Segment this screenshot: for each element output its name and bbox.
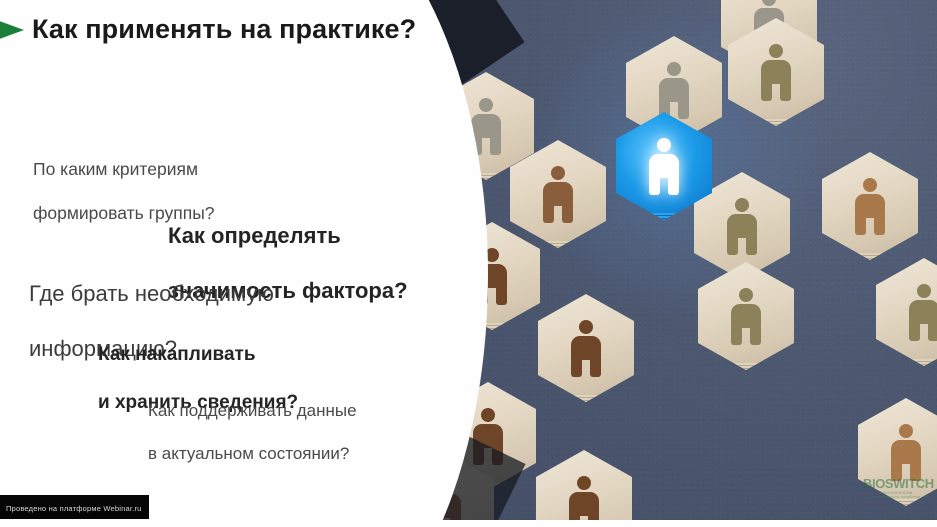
person-pictogram-icon (889, 424, 923, 480)
person-leg-r (928, 322, 937, 341)
person-leg-l (909, 322, 920, 341)
hexagon-tiles-photo (398, 0, 937, 520)
corner-logo-sub-2: для сельского хозяйства (863, 495, 929, 499)
person-body (571, 336, 601, 360)
person-body (731, 304, 761, 328)
person-leg-r (668, 176, 679, 195)
person-body (891, 440, 921, 464)
person-head (769, 44, 783, 58)
person-body (855, 194, 885, 218)
person-leg-l (761, 82, 772, 101)
person-head (479, 98, 493, 112)
question-line: Как определять (168, 222, 408, 250)
person-head (481, 408, 495, 422)
person-leg-l (543, 204, 554, 223)
person-leg-l (571, 358, 582, 377)
person-leg-r (746, 236, 757, 255)
question-line: Как накапливать (98, 343, 298, 367)
corner-logo-mark: BIOSWITCH (863, 477, 929, 491)
person-pictogram-icon (729, 288, 763, 344)
question-line: в актуальном состоянии? (148, 443, 357, 464)
person-body (649, 154, 679, 178)
person-leg-r (750, 326, 761, 345)
person-head (577, 476, 591, 490)
person-leg-r (874, 216, 885, 235)
person-leg-l (731, 326, 742, 345)
person-leg-l (649, 176, 660, 195)
question-line: По каким критериям (33, 158, 215, 180)
person-body (471, 114, 501, 138)
person-head (667, 62, 681, 76)
person-body (569, 492, 599, 516)
question-line: Где брать необходимую (29, 280, 274, 308)
person-pictogram-icon (647, 138, 681, 194)
person-body (659, 78, 689, 102)
person-pictogram-icon (907, 284, 937, 340)
slide-bottom-strip (0, 520, 937, 527)
person-pictogram-icon (567, 476, 601, 520)
person-leg-r (590, 358, 601, 377)
person-head (762, 0, 776, 6)
person-head (739, 288, 753, 302)
person-body (543, 182, 573, 206)
person-body (909, 300, 937, 324)
platform-watermark-text: Проведено на платформе Webinar.ru (6, 504, 142, 513)
green-triangle-icon (0, 17, 24, 43)
person-leg-l (727, 236, 738, 255)
person-leg-r (496, 286, 507, 305)
person-pictogram-icon (725, 198, 759, 254)
slide-root: Как применять на практике? По каким крит… (0, 0, 937, 527)
question-line: Как поддерживать данные (148, 400, 357, 421)
person-pictogram-icon (569, 320, 603, 376)
person-pictogram-icon (759, 44, 793, 100)
person-pictogram-icon (657, 62, 691, 118)
person-head (579, 320, 593, 334)
question-block-4: Как поддерживать данные в актуальном сос… (148, 379, 357, 486)
person-body (761, 60, 791, 84)
person-pictogram-icon (853, 178, 887, 234)
person-head (735, 198, 749, 212)
slide-title-row: Как применять на практике? (0, 14, 416, 45)
page-title: Как применять на практике? (32, 14, 416, 45)
person-head (551, 166, 565, 180)
person-head (863, 178, 877, 192)
person-leg-r (678, 100, 689, 119)
person-leg-r (780, 82, 791, 101)
person-head (917, 284, 931, 298)
person-leg-l (855, 216, 866, 235)
person-leg-r (562, 204, 573, 223)
corner-logo-watermark: BIOSWITCH Биотехнологии для сельского хо… (863, 477, 929, 511)
person-pictogram-icon (541, 166, 575, 222)
person-head (899, 424, 913, 438)
person-leg-r (490, 136, 501, 155)
person-body (727, 214, 757, 238)
platform-watermark: Проведено на платформе Webinar.ru (0, 495, 149, 519)
person-head (657, 138, 671, 152)
